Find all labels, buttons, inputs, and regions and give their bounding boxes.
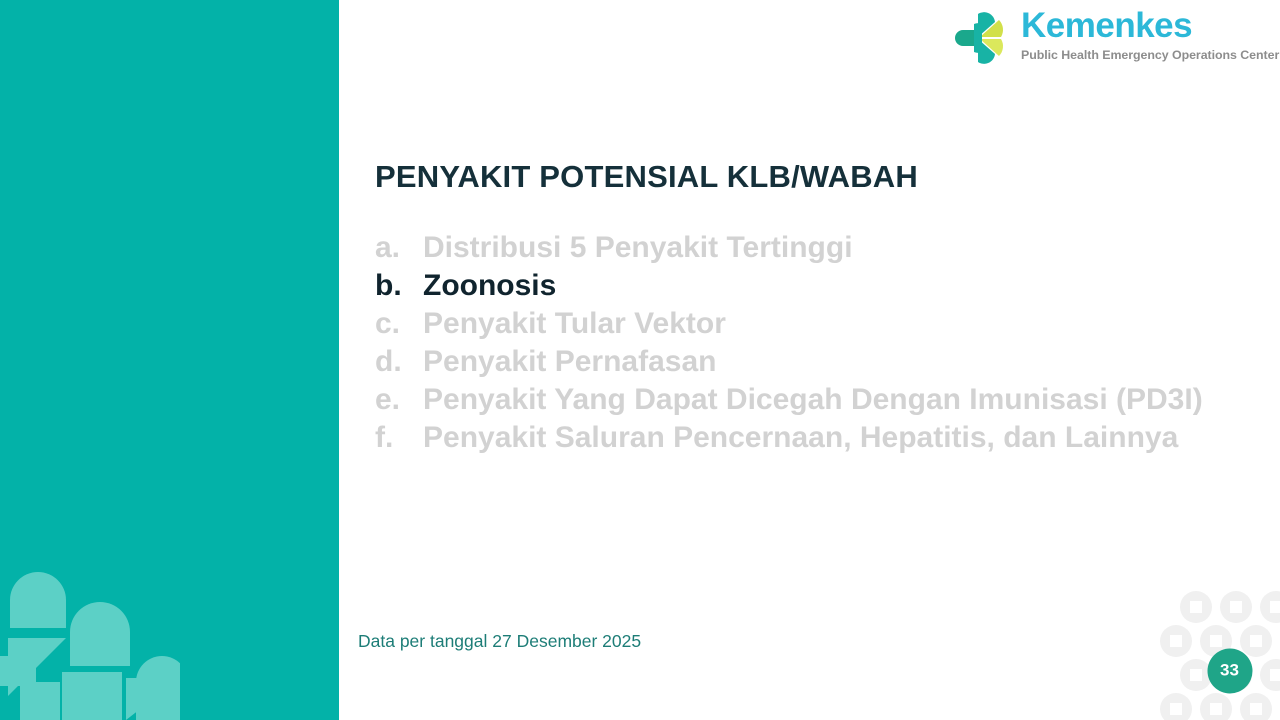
agenda-marker-b: b. [375,267,423,305]
agenda-label-b: Zoonosis [423,267,1220,305]
sidebar-ornament-decoration [0,560,180,720]
slide-content: PENYAKIT POTENSIAL KLB/WABAH a. Distribu… [375,0,1255,720]
agenda-marker-a: a. [375,229,423,267]
agenda-marker-c: c. [375,305,423,343]
agenda-label-c: Penyakit Tular Vektor [423,305,1220,343]
agenda-marker-d: d. [375,343,423,381]
agenda-label-d: Penyakit Pernafasan [423,343,1220,381]
agenda-item-a[interactable]: a. Distribusi 5 Penyakit Tertinggi [375,229,1220,267]
sidebar-panel [0,0,339,720]
agenda-item-f[interactable]: f. Penyakit Saluran Pencernaan, Hepatiti… [375,419,1220,457]
agenda-marker-e: e. [375,381,423,419]
agenda-item-d[interactable]: d. Penyakit Pernafasan [375,343,1220,381]
slide-canvas: Kemenkes Public Health Emergency Operati… [0,0,1280,720]
agenda-label-e: Penyakit Yang Dapat Dicegah Dengan Imuni… [423,381,1220,419]
page-number-badge: 33 [1207,648,1252,693]
agenda-item-c[interactable]: c. Penyakit Tular Vektor [375,305,1220,343]
agenda-marker-f: f. [375,419,423,457]
agenda-label-a: Distribusi 5 Penyakit Tertinggi [423,229,1220,267]
agenda-item-b[interactable]: b. Zoonosis [375,267,1220,305]
agenda-item-e[interactable]: e. Penyakit Yang Dapat Dicegah Dengan Im… [375,381,1220,419]
agenda-label-f: Penyakit Saluran Pencernaan, Hepatitis, … [423,419,1220,457]
page-title: PENYAKIT POTENSIAL KLB/WABAH [375,159,918,195]
agenda-list: a. Distribusi 5 Penyakit Tertinggi b. Zo… [375,229,1220,457]
data-date-note: Data per tanggal 27 Desember 2025 [358,631,641,652]
